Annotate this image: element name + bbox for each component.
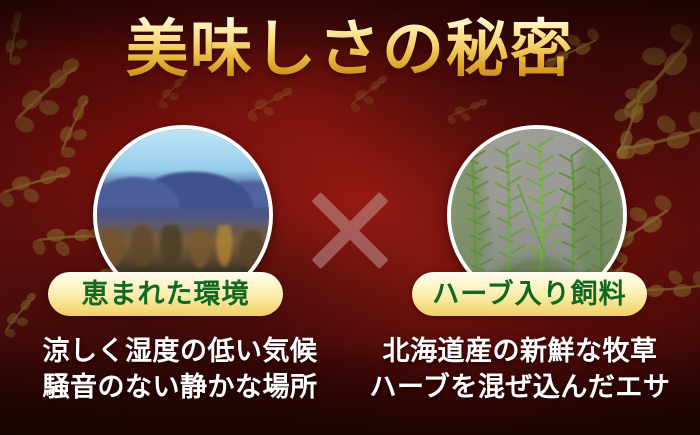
caption-feed-line-1: 北海道産の新鮮な牧草: [350, 334, 690, 370]
badge-environment: 恵まれた環境: [48, 272, 283, 316]
badge-environment-label: 恵まれた環境: [82, 281, 250, 308]
badge-feed: ハーブ入り飼料: [412, 272, 647, 316]
caption-environment-line-2: 騒音のない静かな場所: [10, 370, 350, 406]
caption-environment: 涼しく湿度の低い気候 騒音のない静かな場所: [10, 334, 350, 405]
page-title: 美味しさの秘密: [0, 16, 700, 81]
x-cross-icon: [310, 190, 390, 270]
badge-feed-label: ハーブ入り飼料: [432, 281, 626, 308]
caption-feed-line-2: ハーブを混ぜ込んだエサ: [350, 370, 690, 406]
page-title-text: 美味しさの秘密: [126, 16, 574, 81]
caption-environment-line-1: 涼しく湿度の低い気候: [10, 334, 350, 370]
caption-feed: 北海道産の新鮮な牧草 ハーブを混ぜ込んだエサ: [350, 334, 690, 405]
promo-poster: 美味しさの秘密: [0, 0, 700, 435]
